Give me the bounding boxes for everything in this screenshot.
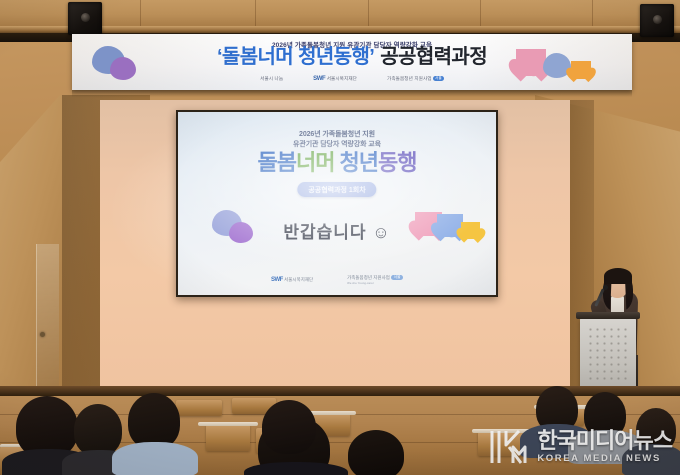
watermark-text: 한국미디어뉴스 KOREA MEDIA NEWS [537,430,672,464]
seat-top-edge [198,422,258,426]
wall-panel-seam [368,0,369,28]
audience-head [128,393,180,449]
projection-screen: 2026년 가족돌봄청년 지원 유관기관 담당자 역량강화 교육 돌봄너머 청년… [178,112,496,295]
ceiling-speaker-icon [640,4,674,37]
audience-head [74,404,122,456]
projection-screen-frame: 2026년 가족돌봄청년 지원 유관기관 담당자 역량강화 교육 돌봄너머 청년… [176,110,498,297]
microphone-head-icon [603,285,608,290]
speaker-hair-top [604,268,632,284]
pink-heart-character-icon [516,49,546,76]
wall-panel-seam [480,0,481,28]
ceiling-wood-band [0,0,680,26]
wall-panel-seam [140,0,141,28]
podium-perforation-pattern [587,326,629,380]
ceiling-speaker-icon [68,2,102,35]
banner-character-group-left [92,44,138,84]
wall-panel-seam [255,0,256,28]
watermark-korean: 한국미디어뉴스 [537,430,672,452]
purple-blob-character-icon [110,57,136,80]
screen-vignette [178,112,496,295]
audience-shoulders [244,462,348,475]
banner-drop-shadow [72,90,632,97]
watermark-english: KOREA MEDIA NEWS [537,454,672,464]
audience-head [262,400,316,454]
wall-panel-seam [592,0,593,28]
watermark: 한국미디어뉴스 KOREA MEDIA NEWS [488,427,672,467]
orange-heart-character-icon [571,61,591,79]
seat-back [206,425,250,451]
audience-head [348,430,404,475]
podium [580,318,636,394]
km-logo-icon [488,427,532,467]
left-glass-door [36,244,59,394]
audience-shoulders [112,442,198,475]
podium-desktop [576,312,640,319]
seat-back [176,400,222,416]
banner-character-group-right [516,47,602,87]
door-handle-icon [40,332,45,337]
photo-scene: 2026년 가족돌봄청년 지원 유관기관 담당자 역량강화 교육 ‘돌봄너머 청… [0,0,680,475]
